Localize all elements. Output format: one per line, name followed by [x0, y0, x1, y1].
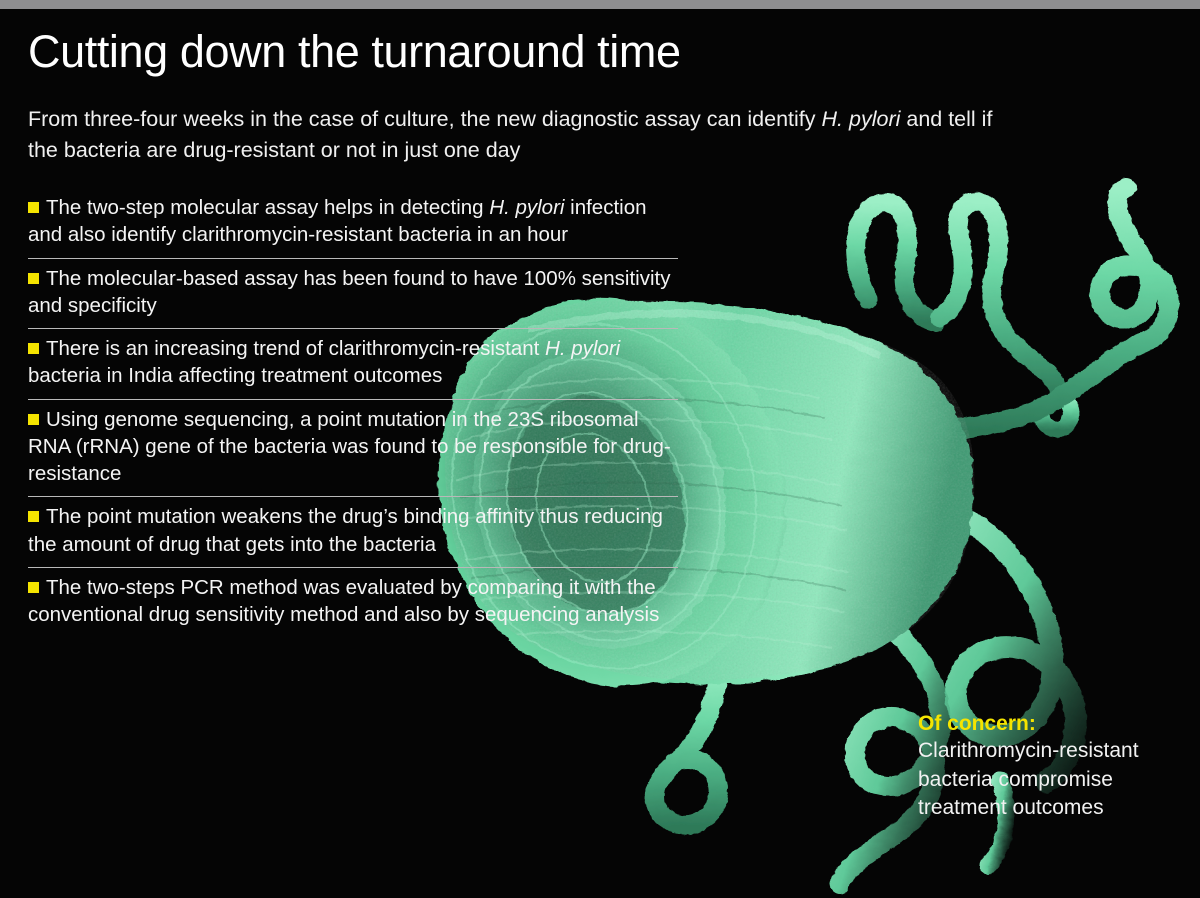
bullet-text: The molecular-based assay has been found… — [28, 265, 678, 320]
bullet-post: bacteria in India affecting treatment ou… — [28, 364, 442, 387]
bullet-square-icon — [28, 202, 39, 213]
bullet-pre: There is an increasing trend of clarithr… — [46, 337, 545, 360]
bullet-text: The two-step molecular assay helps in de… — [28, 194, 678, 249]
list-item: The molecular-based assay has been found… — [28, 258, 678, 329]
bullet-square-icon — [28, 343, 39, 354]
list-item: The point mutation weakens the drug’s bi… — [28, 496, 678, 567]
bullet-pre: Using genome sequencing, a point mutatio… — [28, 408, 671, 486]
bullet-pre: The molecular-based assay has been found… — [28, 267, 670, 317]
deck-italic-species: H. pylori — [822, 107, 901, 131]
bullet-square-icon — [28, 414, 39, 425]
callout-body: Clarithromycin-resistant bacteria compro… — [918, 739, 1139, 819]
infographic-root: Cutting down the turnaround time From th… — [0, 0, 1200, 898]
bullet-italic: H. pylori — [545, 337, 620, 360]
bullet-text: There is an increasing trend of clarithr… — [28, 335, 678, 390]
bullet-text: The point mutation weakens the drug’s bi… — [28, 503, 678, 558]
bullet-text: The two-steps PCR method was evaluated b… — [28, 574, 678, 629]
callout-label: Of concern: — [918, 712, 1036, 735]
list-item: The two-steps PCR method was evaluated b… — [28, 567, 678, 638]
bullet-square-icon — [28, 511, 39, 522]
bullet-text: Using genome sequencing, a point mutatio… — [28, 406, 678, 488]
list-item: The two-step molecular assay helps in de… — [28, 188, 678, 258]
bullet-pre: The two-step molecular assay helps in de… — [46, 196, 489, 219]
list-item: Using genome sequencing, a point mutatio… — [28, 399, 678, 497]
of-concern-callout: Of concern: Clarithromycin-resistant bac… — [918, 710, 1180, 823]
bullet-list: The two-step molecular assay helps in de… — [28, 188, 678, 637]
deck-line-1: From three-four weeks in the case of cul… — [28, 107, 816, 131]
list-item: There is an increasing trend of clarithr… — [28, 328, 678, 399]
bullet-pre: The two-steps PCR method was evaluated b… — [28, 576, 659, 626]
page-title: Cutting down the turnaround time — [28, 28, 681, 75]
bullet-pre: The point mutation weakens the drug’s bi… — [28, 505, 663, 555]
bullet-square-icon — [28, 582, 39, 593]
deck-subtitle: From three-four weeks in the case of cul… — [28, 104, 1008, 165]
content-layer: Cutting down the turnaround time From th… — [0, 0, 1200, 898]
bullet-italic: H. pylori — [489, 196, 564, 219]
bullet-square-icon — [28, 273, 39, 284]
